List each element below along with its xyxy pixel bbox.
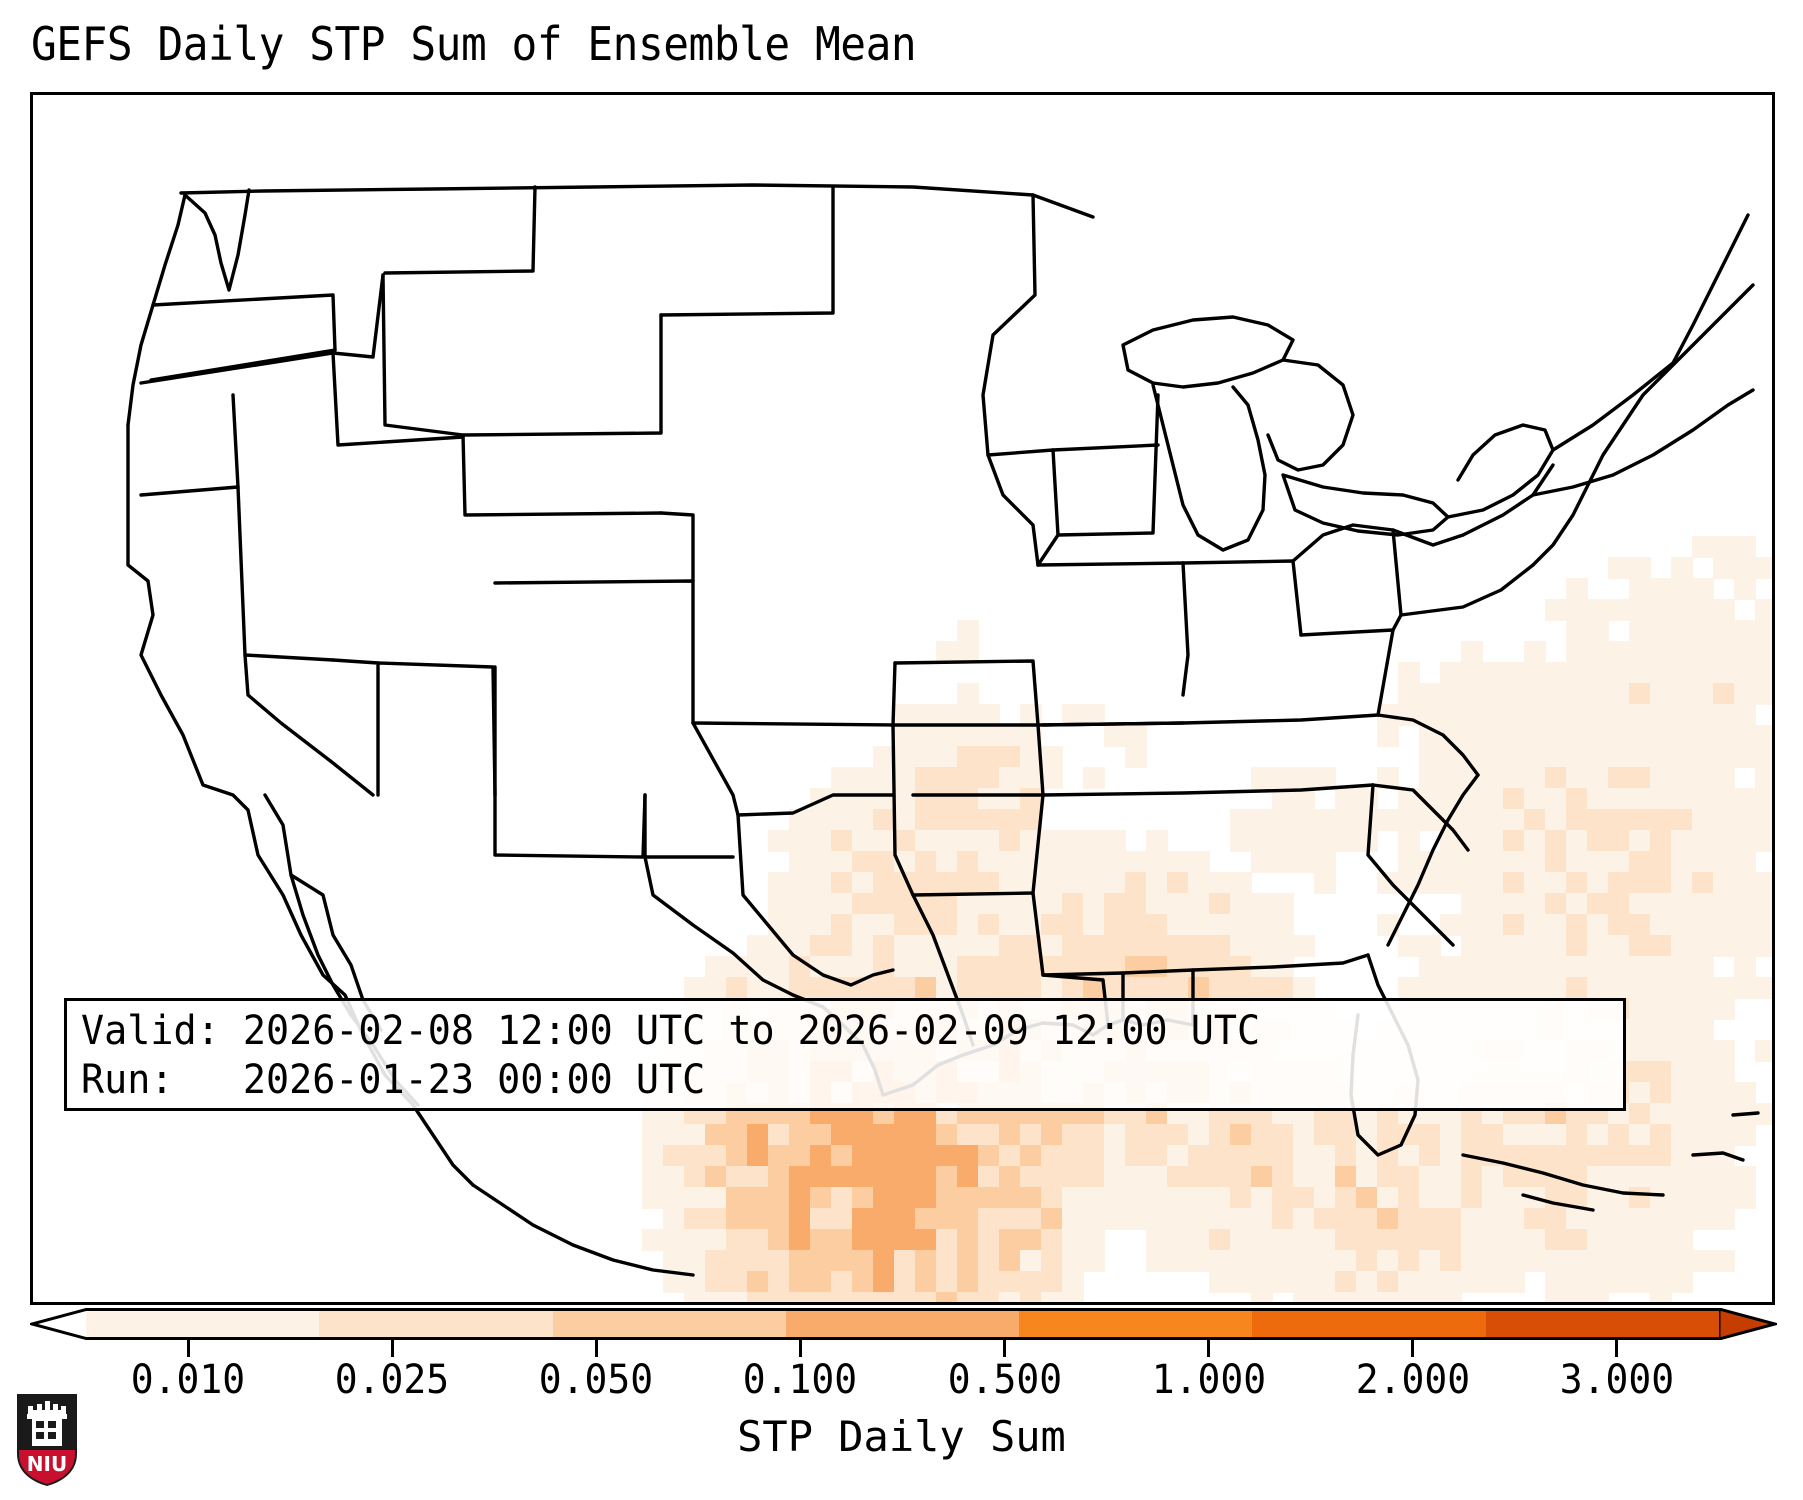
colorbar-tick-label-5: 1.000 <box>1151 1357 1265 1403</box>
colorbar-band-1 <box>319 1311 552 1337</box>
colorbar-band-5 <box>1252 1311 1485 1337</box>
colorbar-band-6 <box>1486 1311 1719 1337</box>
niu-logo-text: NIU <box>27 1452 67 1476</box>
colorbar-tick-0 <box>187 1340 190 1357</box>
colorbar-axis-label: STP Daily Sum <box>0 1412 1803 1461</box>
page-title: GEFS Daily STP Sum of Ensemble Mean <box>31 17 916 71</box>
colorbar-tick-4 <box>1003 1340 1006 1357</box>
colorbar-tick-3 <box>799 1340 802 1357</box>
colorbar-bands <box>86 1308 1719 1340</box>
colorbar-max-arrow <box>1719 1308 1777 1340</box>
colorbar-tick-label-7: 3.000 <box>1560 1357 1674 1403</box>
run-time-text: Run: 2026-01-23 00:00 UTC <box>81 1057 705 1103</box>
colorbar-tick-1 <box>391 1340 394 1357</box>
colorbar-band-2 <box>553 1311 786 1337</box>
colorbar-tick-label-2: 0.050 <box>539 1357 653 1403</box>
colorbar-tick-label-4: 0.500 <box>947 1357 1061 1403</box>
niu-logo: NIU <box>14 1392 80 1488</box>
info-box: Valid: 2026-02-08 12:00 UTC to 2026-02-0… <box>64 998 1626 1111</box>
colorbar-tick-5 <box>1207 1340 1210 1357</box>
geography-outlines <box>33 95 1772 1302</box>
colorbar-tick-6 <box>1411 1340 1414 1357</box>
colorbar-tick-7 <box>1615 1340 1618 1357</box>
colorbar-tick-2 <box>595 1340 598 1357</box>
valid-time-text: Valid: 2026-02-08 12:00 UTC to 2026-02-0… <box>81 1008 1260 1054</box>
colorbar-tick-label-6: 2.000 <box>1356 1357 1470 1403</box>
map-panel: Valid: 2026-02-08 12:00 UTC to 2026-02-0… <box>30 92 1775 1305</box>
colorbar[interactable]: 0.0100.0250.0500.1000.5001.0002.0003.000 <box>30 1308 1775 1340</box>
colorbar-tick-label-3: 0.100 <box>743 1357 857 1403</box>
colorbar-tick-label-1: 0.025 <box>335 1357 449 1403</box>
colorbar-min-arrow <box>30 1308 88 1340</box>
colorbar-band-0 <box>86 1311 319 1337</box>
colorbar-tick-label-0: 0.010 <box>131 1357 245 1403</box>
colorbar-band-4 <box>1019 1311 1252 1337</box>
colorbar-band-3 <box>786 1311 1019 1337</box>
